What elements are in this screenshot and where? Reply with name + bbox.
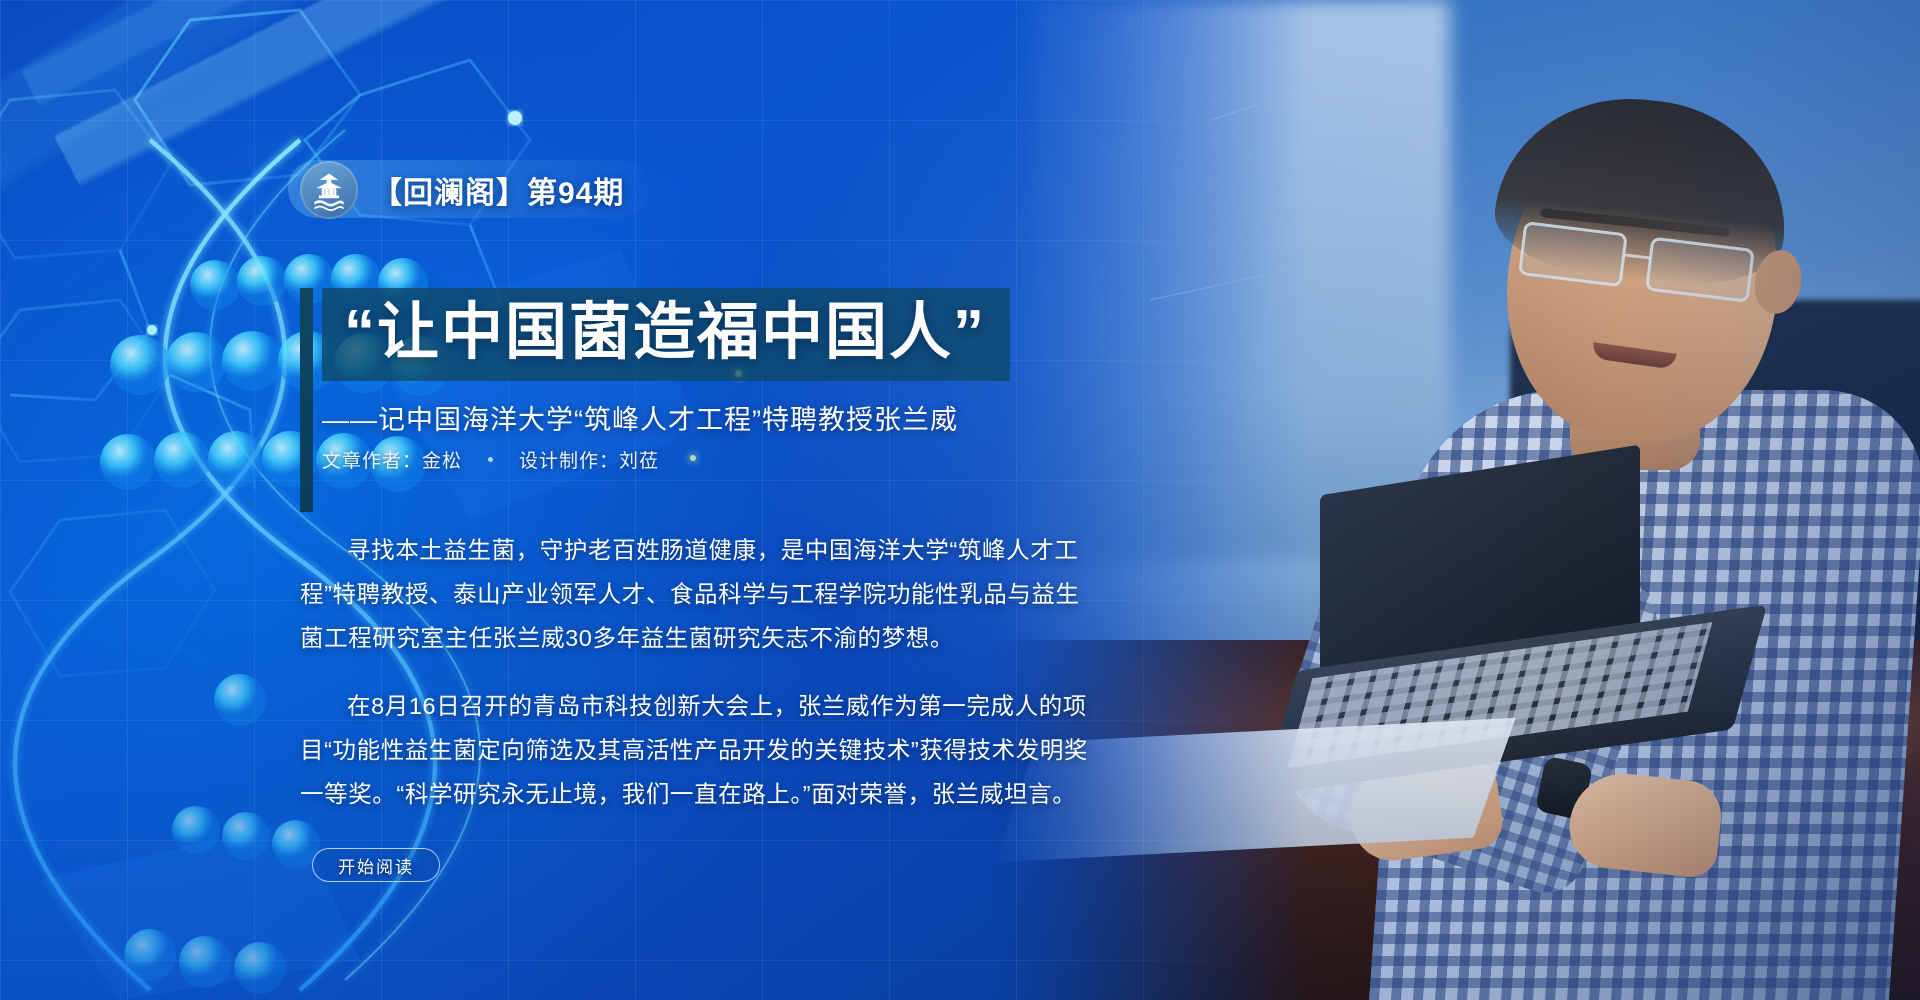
series-badge[interactable]: 【回澜阁】第94期 xyxy=(300,158,624,222)
byline: 文章作者：金松 设计制作：刘莅 xyxy=(322,446,659,473)
start-reading-button[interactable]: 开始阅读 xyxy=(312,848,440,882)
series-badge-label: 【回澜阁】第94期 xyxy=(372,168,624,212)
article-body: 寻找本土益生菌，守护老百姓肠道健康，是中国海洋大学“筑峰人才工程”特聘教授、泰山… xyxy=(300,528,1090,816)
title-accent-bar xyxy=(300,288,313,512)
headline-bar: “让中国菌造福中国人” xyxy=(322,288,1010,381)
poster-content: 【回澜阁】第94期 “让中国菌造福中国人” ——记中国海洋大学“筑峰人才工程”特… xyxy=(0,0,1100,1000)
page-title: “让中国菌造福中国人” xyxy=(344,298,986,367)
headline-subtitle: ——记中国海洋大学“筑峰人才工程”特聘教授张兰威 xyxy=(322,398,958,437)
poster-stage: 舒小益 适小益 即食型乳酸菌 xyxy=(0,0,1920,1000)
professor-photo: 舒小益 适小益 即食型乳酸菌 xyxy=(990,0,1920,1000)
article-paragraph: 寻找本土益生菌，守护老百姓肠道健康，是中国海洋大学“筑峰人才工程”特聘教授、泰山… xyxy=(300,528,1090,660)
pagoda-wave-logo-icon xyxy=(300,161,358,219)
byline-separator-dot xyxy=(488,457,493,462)
byline-designer: 设计制作：刘莅 xyxy=(519,446,659,473)
byline-author: 文章作者：金松 xyxy=(322,446,462,473)
article-paragraph: 在8月16日召开的青岛市科技创新大会上，张兰威作为第一完成人的项目“功能性益生菌… xyxy=(300,684,1090,816)
